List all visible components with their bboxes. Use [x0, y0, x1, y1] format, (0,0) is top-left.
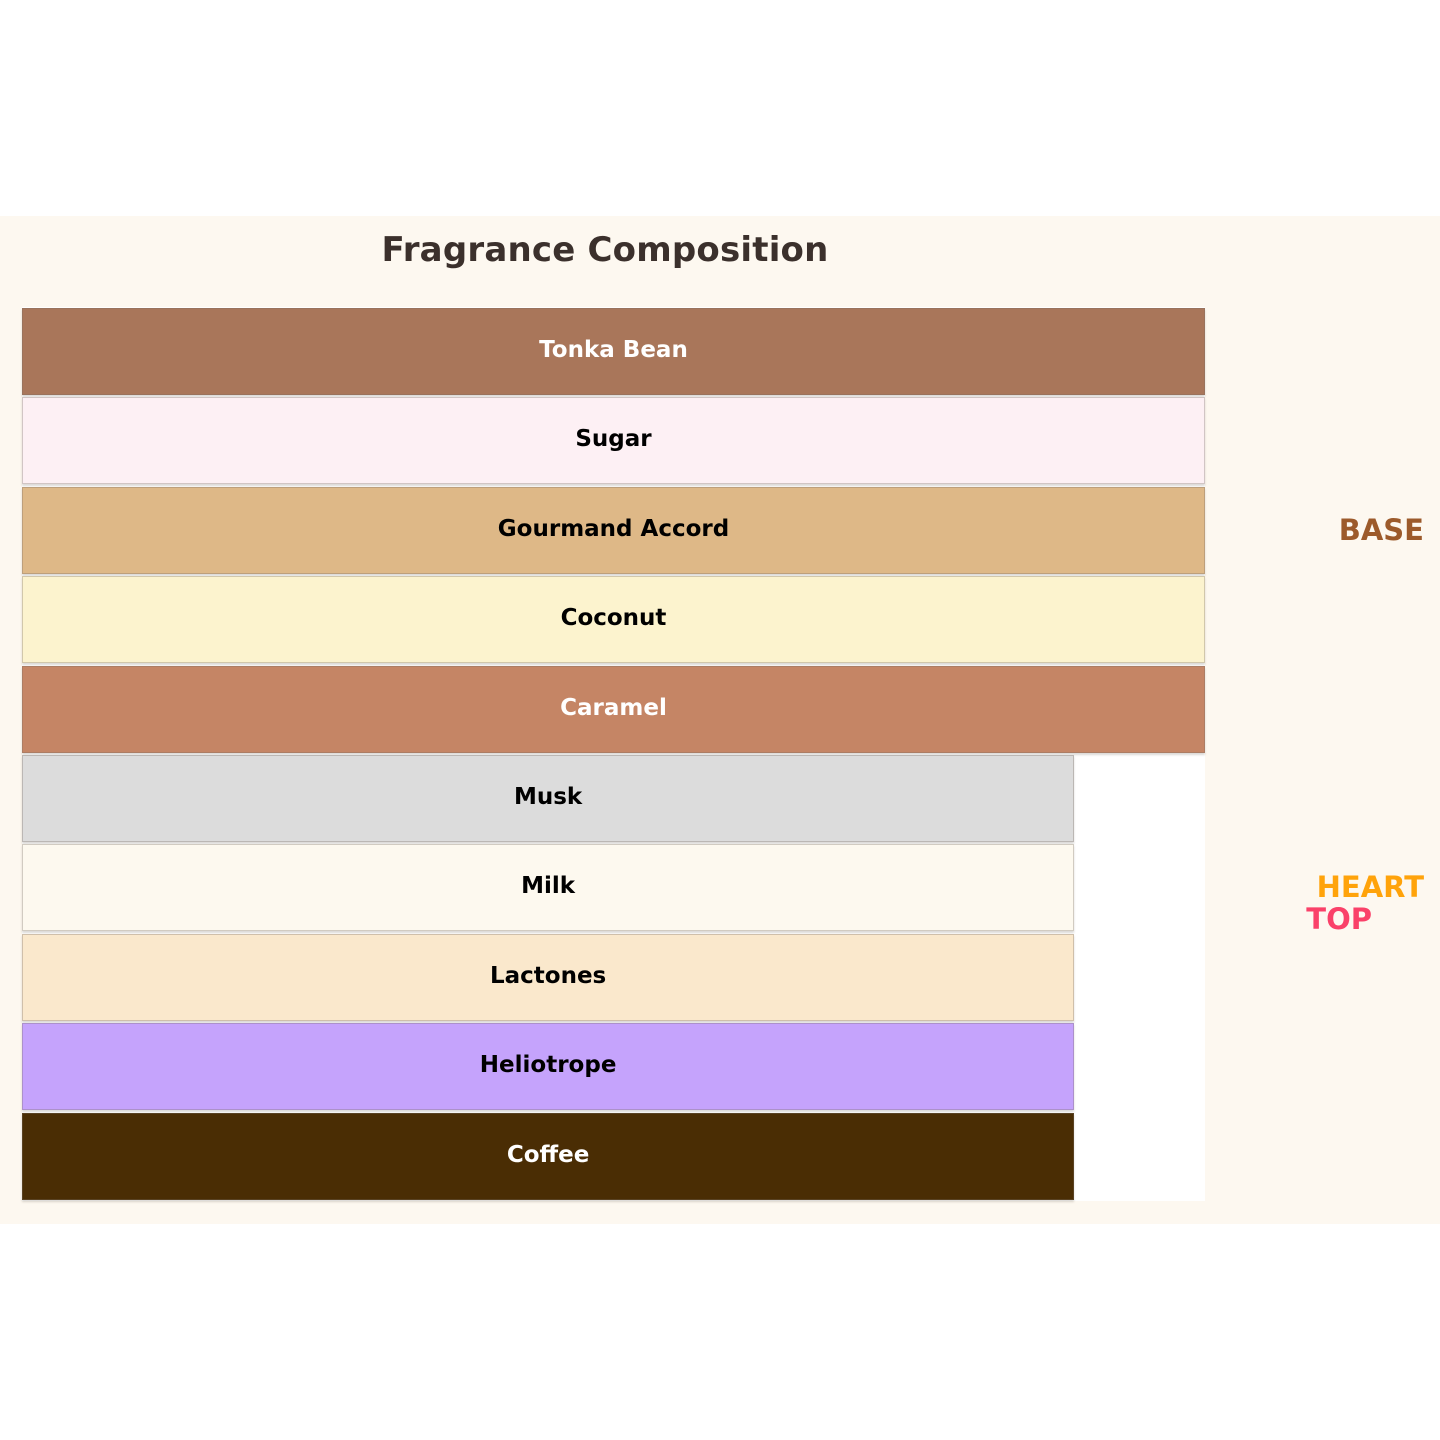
bar-row[interactable]: Tonka Bean [22, 307, 1205, 396]
bar-milk[interactable] [22, 844, 1074, 931]
bar-row[interactable]: Caramel [22, 665, 1205, 754]
bar-caramel[interactable] [22, 666, 1205, 753]
bar-row[interactable]: Coffee [22, 1112, 1205, 1201]
bar-row[interactable]: Heliotrope [22, 1022, 1205, 1111]
bar-sugar[interactable] [22, 397, 1205, 484]
chart-figure: Fragrance Composition Tonka BeanSugarGou… [0, 216, 1440, 1224]
group-label-base: BASE [1339, 513, 1424, 547]
bar-tonka-bean[interactable] [22, 308, 1205, 395]
bar-coconut[interactable] [22, 576, 1205, 663]
bar-row[interactable]: Musk [22, 754, 1205, 843]
bar-row[interactable]: Milk [22, 843, 1205, 932]
bar-row[interactable]: Coconut [22, 575, 1205, 664]
bar-row[interactable]: Sugar [22, 396, 1205, 485]
bar-row[interactable]: Gourmand Accord [22, 486, 1205, 575]
bar-lactones[interactable] [22, 934, 1074, 1021]
bar-musk[interactable] [22, 755, 1074, 842]
bar-gourmand-accord[interactable] [22, 487, 1205, 574]
page-title: Fragrance Composition [0, 230, 1210, 270]
bar-row[interactable]: Lactones [22, 933, 1205, 1022]
bar-heliotrope[interactable] [22, 1023, 1074, 1110]
bar-coffee[interactable] [22, 1113, 1074, 1200]
plot-area: Tonka BeanSugarGourmand AccordCoconutCar… [22, 307, 1205, 1201]
group-label-top: TOP [1306, 902, 1372, 936]
group-label-heart: HEART [1317, 870, 1424, 904]
